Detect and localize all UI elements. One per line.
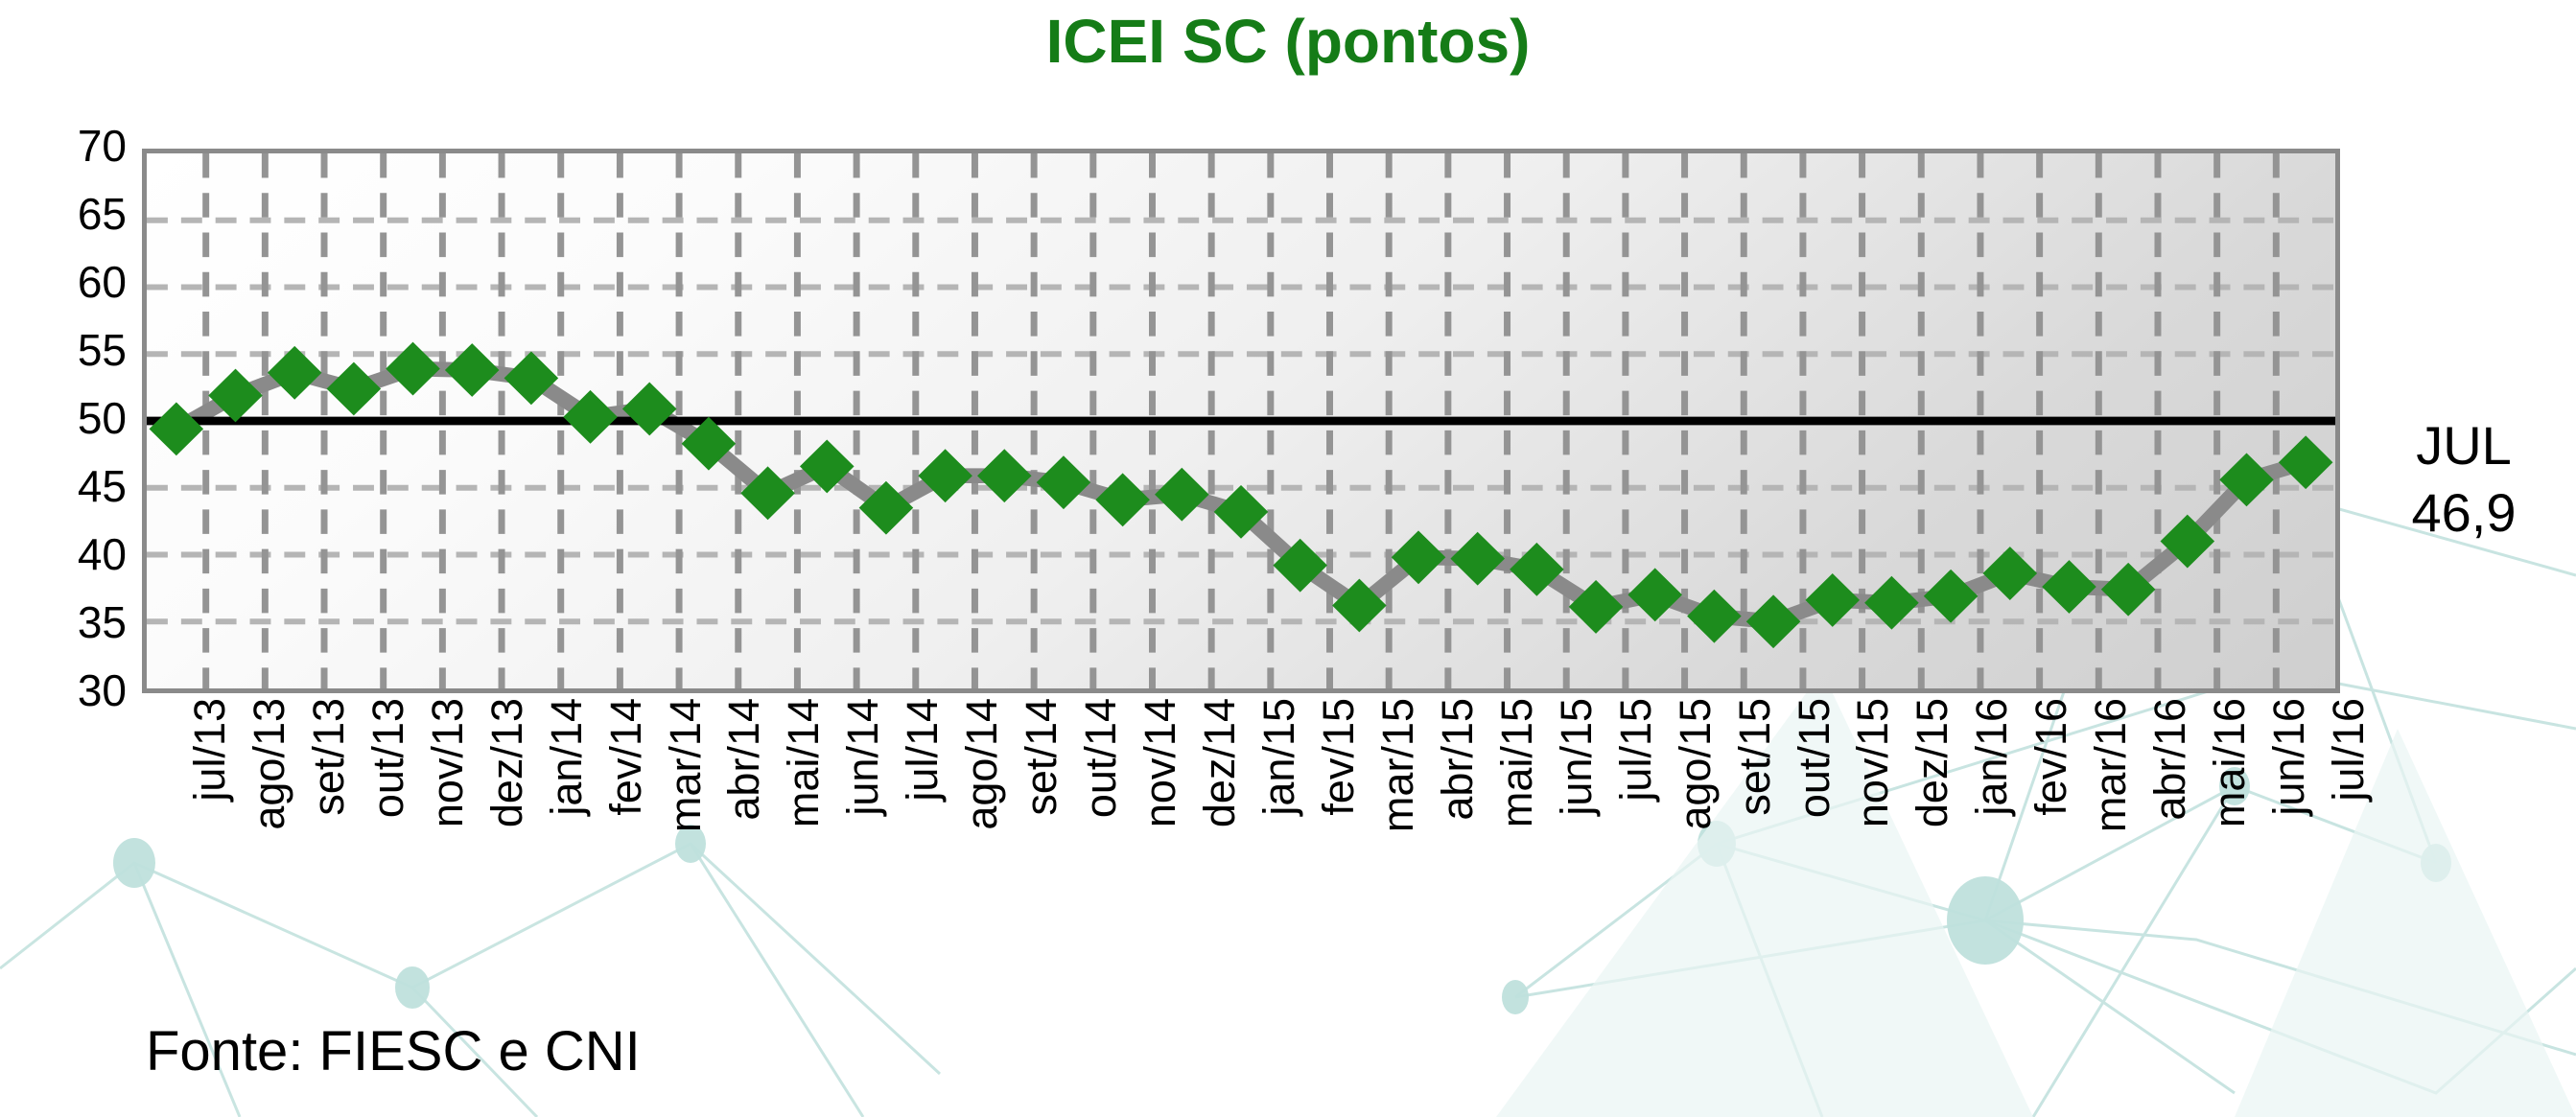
x-axis-tick-label: mar/15 — [1376, 698, 1419, 832]
y-axis-tick-label: 45 — [12, 464, 127, 508]
x-axis-tick-label: jul/16 — [2327, 698, 2370, 802]
data-point-marker — [2044, 561, 2096, 612]
data-point-marker — [1156, 469, 1207, 520]
x-axis-tick-label: ago/14 — [960, 698, 1003, 830]
x-axis-tick-label: jan/16 — [1970, 698, 2013, 816]
x-axis-tick-label: fev/14 — [604, 698, 647, 816]
x-axis-tick-label: abr/16 — [2148, 698, 2191, 821]
data-point-marker — [978, 451, 1030, 501]
y-axis-tick-label: 30 — [12, 668, 127, 712]
x-axis-tick-label: nov/15 — [1851, 698, 1894, 827]
x-axis-tick-label: mar/16 — [2089, 698, 2132, 832]
data-point-marker — [1629, 570, 1681, 620]
y-axis-tick-label: 35 — [12, 600, 127, 644]
x-axis-tick-label: jul/13 — [188, 698, 231, 802]
x-axis-tick-label: ago/13 — [247, 698, 291, 830]
y-axis-tick-label: 40 — [12, 532, 127, 576]
data-point-marker — [1925, 570, 1977, 621]
x-axis-tick-label: out/14 — [1079, 698, 1122, 818]
y-axis-tick-label: 70 — [12, 124, 127, 168]
y-axis-tick-label: 60 — [12, 260, 127, 304]
x-axis-tick-label: nov/14 — [1138, 698, 1182, 827]
x-axis-tick-label: dez/15 — [1910, 698, 1954, 827]
data-point-marker — [1984, 548, 2036, 599]
x-axis-tick-label: mai/15 — [1495, 698, 1538, 827]
y-axis: 706560555045403530 — [0, 0, 127, 1117]
x-axis-tick-label: ago/15 — [1674, 698, 1717, 830]
data-point-marker — [1689, 591, 1741, 641]
x-axis-tick-label: jan/15 — [1257, 698, 1300, 816]
data-point-marker — [1452, 533, 1504, 584]
x-axis-tick-label: jun/14 — [841, 698, 884, 816]
x-axis-tick-label: dez/13 — [485, 698, 528, 827]
x-axis-tick-label: mai/16 — [2208, 698, 2251, 827]
data-point-marker — [1038, 457, 1089, 508]
data-point-marker — [328, 363, 380, 414]
x-axis-tick-label: out/13 — [366, 698, 410, 818]
x-axis-tick-label: jan/14 — [545, 698, 588, 816]
data-point-marker — [1807, 574, 1859, 625]
x-axis-tick-label: set/13 — [307, 698, 350, 816]
x-axis: jul/13ago/13set/13out/13nov/13dez/13jan/… — [142, 698, 2340, 1014]
x-axis-tick-label: set/15 — [1733, 698, 1776, 816]
x-axis-tick-label: out/15 — [1792, 698, 1836, 818]
x-axis-tick-label: jul/14 — [901, 698, 944, 802]
latest-value-annotation: JUL 46,9 — [2352, 412, 2576, 547]
x-axis-tick-label: fev/16 — [2029, 698, 2073, 816]
plot-area — [142, 149, 2340, 693]
x-axis-tick-label: fev/15 — [1317, 698, 1360, 816]
x-axis-tick-label: jul/15 — [1614, 698, 1657, 802]
data-point-marker — [446, 344, 498, 395]
data-point-marker — [387, 343, 439, 394]
x-axis-tick-label: nov/13 — [426, 698, 469, 827]
data-point-marker — [269, 347, 320, 398]
x-axis-tick-label: dez/14 — [1198, 698, 1241, 827]
data-point-marker — [1747, 596, 1799, 647]
page-title: ICEI SC (pontos) — [0, 6, 2576, 77]
data-point-marker — [1097, 475, 1149, 525]
x-axis-tick-label: mai/14 — [782, 698, 825, 827]
chart-svg — [147, 153, 2335, 688]
x-axis-tick-label: abr/14 — [722, 698, 765, 821]
annotation-label: JUL — [2352, 412, 2576, 479]
x-axis-tick-label: abr/15 — [1436, 698, 1479, 821]
x-axis-tick-label: jun/15 — [1555, 698, 1598, 816]
source-note: Fonte: FIESC e CNI — [146, 1019, 641, 1083]
y-axis-tick-label: 50 — [12, 396, 127, 440]
annotation-value: 46,9 — [2352, 479, 2576, 547]
y-axis-tick-label: 55 — [12, 328, 127, 372]
x-axis-tick-label: jun/16 — [2267, 698, 2310, 816]
data-point-marker — [2280, 437, 2331, 488]
y-axis-tick-label: 65 — [12, 192, 127, 236]
x-axis-tick-label: mar/14 — [664, 698, 707, 832]
x-axis-tick-label: set/14 — [1019, 698, 1063, 816]
